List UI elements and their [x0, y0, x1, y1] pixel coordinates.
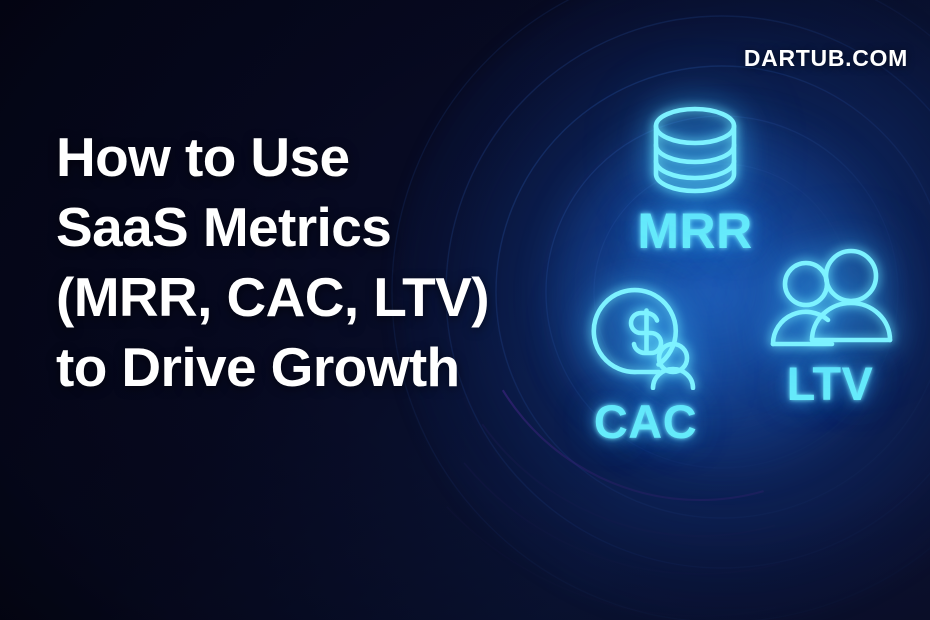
metric-cac-label: CAC [594, 398, 697, 445]
page-title: How to Use SaaS Metrics (MRR, CAC, LTV) … [56, 122, 526, 402]
page-title-line-2: SaaS Metrics [56, 192, 526, 262]
metric-mrr: MRR [600, 104, 790, 256]
site-logo: DARTUB.COM [744, 45, 908, 72]
page-title-line-1: How to Use [56, 122, 526, 192]
metric-ltv-label: LTV [787, 360, 874, 407]
page-title-line-4: to Drive Growth [56, 332, 526, 402]
cover-image-canvas: DARTUB.COM How to Use SaaS Metrics (MRR,… [0, 0, 930, 620]
metric-ltv: LTV [750, 248, 910, 407]
metric-mrr-label: MRR [637, 206, 752, 256]
two-people-icon [766, 248, 894, 354]
dollar-circle-person-icon [585, 278, 707, 390]
database-icon [643, 104, 747, 196]
page-title-line-3: (MRR, CAC, LTV) [56, 262, 526, 332]
metric-cac: CAC [558, 278, 733, 445]
